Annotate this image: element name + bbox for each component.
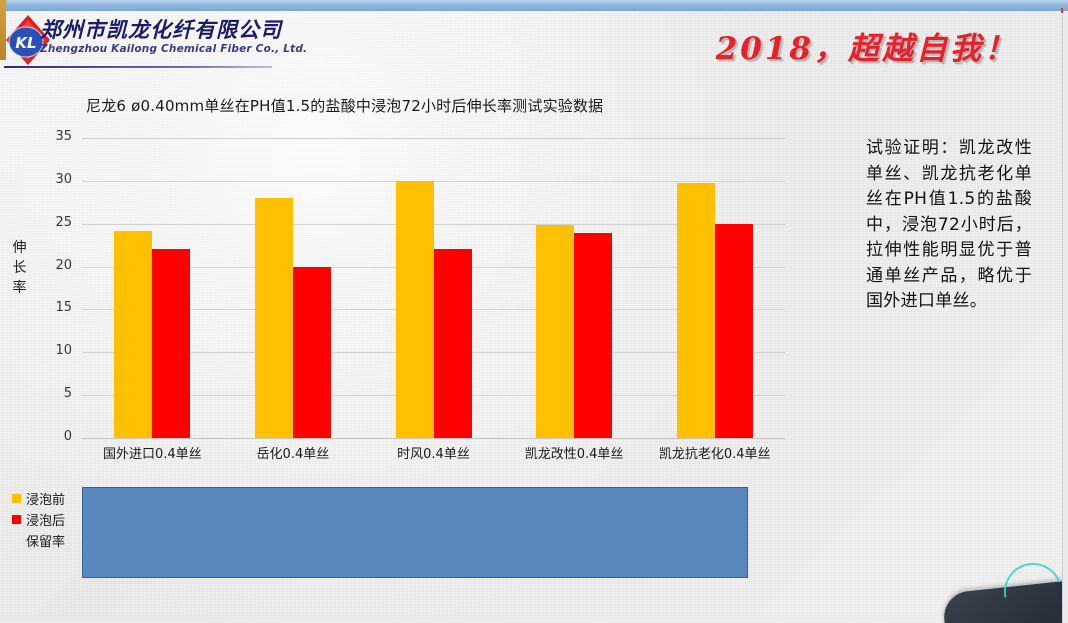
bar-pre-soak bbox=[396, 181, 434, 438]
legend-swatch-icon bbox=[12, 515, 21, 524]
legend-label: 浸泡前 bbox=[26, 489, 65, 508]
bar-post-soak bbox=[152, 249, 190, 438]
legend-label: 浸泡后 bbox=[26, 510, 65, 529]
slide-canvas: KL 郑州市凯龙化纤有限公司 Zhengzhou Kailong Chemica… bbox=[0, 0, 1068, 623]
bar-post-soak bbox=[293, 267, 331, 438]
y-tick-label: 10 bbox=[38, 343, 72, 358]
window-titlebar-strip bbox=[0, 0, 1068, 11]
y-tick-label: 5 bbox=[38, 386, 72, 401]
bar-post-soak bbox=[434, 249, 472, 438]
bar-series-layer bbox=[82, 138, 785, 438]
y-tick-label: 0 bbox=[38, 429, 72, 444]
window-edge-left bbox=[0, 0, 6, 60]
legend-item: 保留率 bbox=[12, 530, 65, 551]
legend-item: 浸泡后 bbox=[12, 509, 65, 530]
bar-pre-soak bbox=[536, 225, 574, 438]
blue-placeholder-box[interactable] bbox=[82, 487, 748, 578]
x-axis-label: 凯龙抗老化0.4单丝 bbox=[647, 446, 782, 463]
legend-swatch-icon bbox=[12, 494, 21, 503]
x-axis-label: 岳化0.4单丝 bbox=[226, 446, 361, 463]
bar-post-soak bbox=[715, 224, 753, 438]
bar-pre-soak bbox=[114, 231, 152, 438]
legend-label: 保留率 bbox=[26, 531, 65, 550]
x-axis-line bbox=[82, 438, 785, 439]
bar-pre-soak bbox=[677, 183, 715, 438]
x-axis-label: 凯龙改性0.4单丝 bbox=[507, 446, 642, 463]
y-tick-label: 30 bbox=[38, 172, 72, 187]
y-tick-label: 25 bbox=[38, 215, 72, 230]
y-tick-label: 15 bbox=[38, 300, 72, 315]
x-axis-label: 时风0.4单丝 bbox=[366, 446, 501, 463]
chart-title: 尼龙6 ø0.40mm单丝在PH值1.5的盐酸中浸泡72小时后伸长率测试实验数据 bbox=[86, 95, 603, 116]
y-tick-label: 35 bbox=[38, 129, 72, 144]
legend-item: 浸泡前 bbox=[12, 488, 65, 509]
vertical-scrollbar[interactable] bbox=[1062, 11, 1068, 623]
x-axis-label: 国外进口0.4单丝 bbox=[85, 446, 220, 463]
scrollbar-marker bbox=[1061, 8, 1063, 13]
bar-post-soak bbox=[574, 233, 612, 438]
bar-pre-soak bbox=[255, 198, 293, 438]
y-tick-label: 20 bbox=[38, 258, 72, 273]
chart-legend: 浸泡前浸泡后保留率 bbox=[12, 488, 65, 551]
y-axis-title: 伸长率 bbox=[9, 238, 31, 298]
legend-swatch-icon bbox=[12, 536, 21, 545]
